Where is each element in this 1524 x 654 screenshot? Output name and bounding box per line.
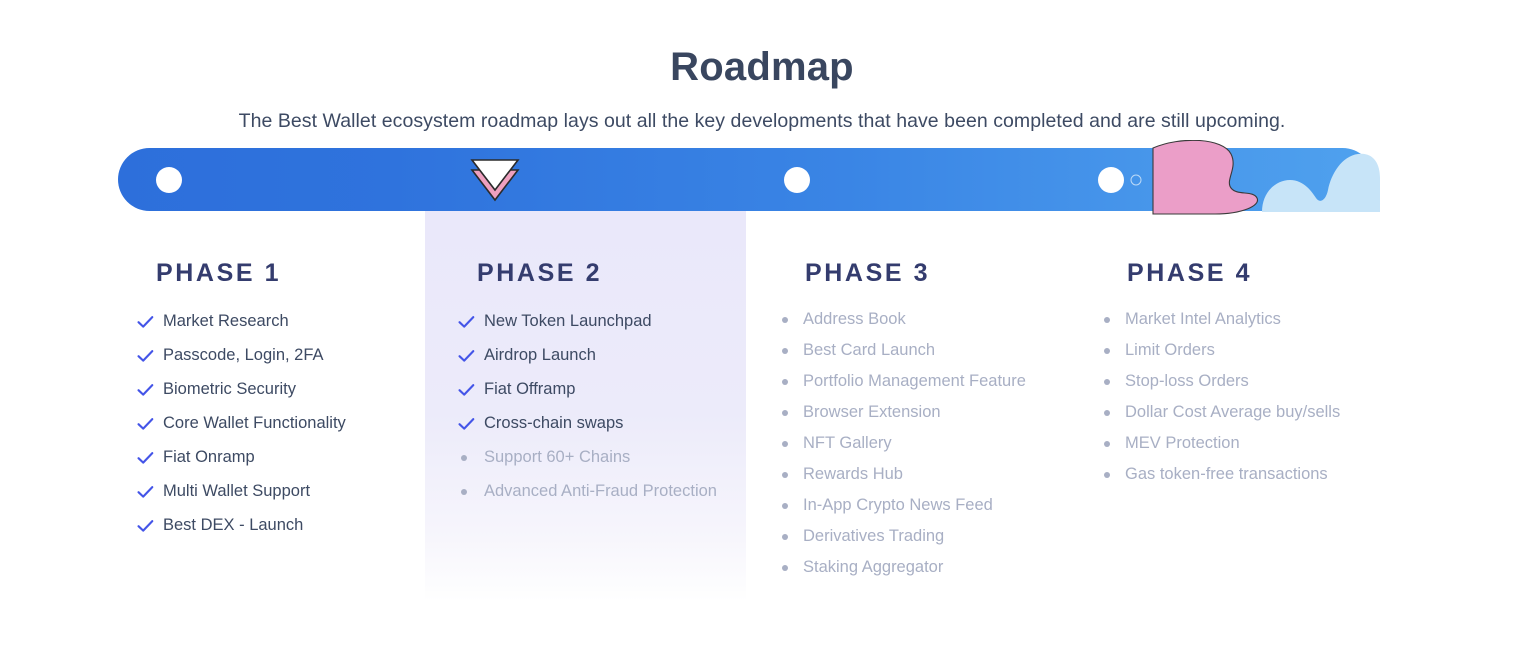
bullet-dot xyxy=(782,410,788,416)
list-item-label: Limit Orders xyxy=(1125,339,1215,362)
bullet-icon xyxy=(779,339,803,362)
phase-4-list: Market Intel AnalyticsLimit OrdersStop-l… xyxy=(1101,308,1401,486)
list-item-label: NFT Gallery xyxy=(803,432,892,455)
list-item: Multi Wallet Support xyxy=(137,480,437,503)
check-icon xyxy=(137,446,163,469)
bullet-dot xyxy=(782,348,788,354)
check-icon xyxy=(458,378,484,401)
bullet-icon xyxy=(458,480,484,503)
list-item: New Token Launchpad xyxy=(458,310,748,333)
list-item: Biometric Security xyxy=(137,378,437,401)
bullet-icon xyxy=(779,308,803,331)
list-item-label: MEV Protection xyxy=(1125,432,1240,455)
bullet-dot xyxy=(782,317,788,323)
bullet-icon xyxy=(1101,432,1125,455)
bullet-dot xyxy=(782,565,788,571)
list-item: Market Intel Analytics xyxy=(1101,308,1401,331)
list-item: Stop-loss Orders xyxy=(1101,370,1401,393)
list-item: In-App Crypto News Feed xyxy=(779,494,1089,517)
list-item-label: New Token Launchpad xyxy=(484,310,652,333)
list-item: Passcode, Login, 2FA xyxy=(137,344,437,367)
list-item: Gas token-free transactions xyxy=(1101,463,1401,486)
bullet-icon xyxy=(1101,339,1125,362)
check-icon xyxy=(137,480,163,503)
list-item: Browser Extension xyxy=(779,401,1089,424)
list-item: Cross-chain swaps xyxy=(458,412,748,435)
bullet-icon xyxy=(1101,463,1125,486)
list-item: Core Wallet Functionality xyxy=(137,412,437,435)
list-item: Fiat Offramp xyxy=(458,378,748,401)
list-item: Portfolio Management Feature xyxy=(779,370,1089,393)
list-item-label: Passcode, Login, 2FA xyxy=(163,344,324,367)
progress-bar-track xyxy=(118,148,1374,211)
phase-1-node[interactable] xyxy=(156,167,182,193)
bullet-dot xyxy=(782,534,788,540)
phase-3-node[interactable] xyxy=(784,167,810,193)
list-item-label: Dollar Cost Average buy/sells xyxy=(1125,401,1340,424)
list-item: Support 60+ Chains xyxy=(458,446,748,469)
list-item-label: Best DEX - Launch xyxy=(163,514,303,537)
list-item-label: Multi Wallet Support xyxy=(163,480,310,503)
list-item: Best Card Launch xyxy=(779,339,1089,362)
list-item-label: Airdrop Launch xyxy=(484,344,596,367)
check-icon xyxy=(458,344,484,367)
check-icon xyxy=(137,378,163,401)
bullet-dot xyxy=(461,489,467,495)
list-item-label: Staking Aggregator xyxy=(803,556,943,579)
list-item-label: Biometric Security xyxy=(163,378,296,401)
phase-5-node xyxy=(1131,174,1142,185)
list-item-label: Cross-chain swaps xyxy=(484,412,623,435)
bullet-dot xyxy=(461,455,467,461)
list-item: Advanced Anti-Fraud Protection xyxy=(458,480,748,503)
bullet-icon xyxy=(779,432,803,455)
list-item: Market Research xyxy=(137,310,437,333)
bullet-dot xyxy=(1104,441,1110,447)
list-item-label: Advanced Anti-Fraud Protection xyxy=(484,480,717,503)
check-icon xyxy=(458,412,484,435)
list-item: Rewards Hub xyxy=(779,463,1089,486)
list-item: Address Book xyxy=(779,308,1089,331)
bullet-dot xyxy=(1104,317,1110,323)
bullet-icon xyxy=(779,463,803,486)
phase-1-heading: PHASE 1 xyxy=(156,259,437,288)
list-item: Fiat Onramp xyxy=(137,446,437,469)
bullet-icon xyxy=(1101,308,1125,331)
list-item-label: In-App Crypto News Feed xyxy=(803,494,993,517)
bullet-dot xyxy=(1104,410,1110,416)
phase-2-list: New Token LaunchpadAirdrop LaunchFiat Of… xyxy=(458,310,748,503)
bullet-icon xyxy=(779,401,803,424)
check-icon xyxy=(137,514,163,537)
list-item: Staking Aggregator xyxy=(779,556,1089,579)
bullet-dot xyxy=(782,379,788,385)
bullet-icon xyxy=(779,494,803,517)
bullet-icon xyxy=(779,556,803,579)
list-item-label: Fiat Offramp xyxy=(484,378,575,401)
check-icon xyxy=(137,412,163,435)
list-item: Best DEX - Launch xyxy=(137,514,437,537)
list-item-label: Browser Extension xyxy=(803,401,941,424)
page-subtitle: The Best Wallet ecosystem roadmap lays o… xyxy=(0,110,1524,133)
check-icon xyxy=(458,310,484,333)
phase-1-list: Market ResearchPasscode, Login, 2FABiome… xyxy=(137,310,437,537)
phase-4-node[interactable] xyxy=(1098,167,1124,193)
bullet-icon xyxy=(779,525,803,548)
bullet-dot xyxy=(782,472,788,478)
phase-3-list: Address BookBest Card LaunchPortfolio Ma… xyxy=(779,308,1089,579)
list-item: Derivatives Trading xyxy=(779,525,1089,548)
list-item-label: Support 60+ Chains xyxy=(484,446,630,469)
bullet-dot xyxy=(1104,348,1110,354)
list-item-label: Portfolio Management Feature xyxy=(803,370,1026,393)
page-title: Roadmap xyxy=(0,45,1524,90)
bullet-icon xyxy=(1101,401,1125,424)
bullet-icon xyxy=(1101,370,1125,393)
list-item: Dollar Cost Average buy/sells xyxy=(1101,401,1401,424)
list-item-label: Best Card Launch xyxy=(803,339,935,362)
list-item-label: Gas token-free transactions xyxy=(1125,463,1328,486)
bullet-dot xyxy=(782,503,788,509)
list-item-label: Core Wallet Functionality xyxy=(163,412,346,435)
list-item-label: Rewards Hub xyxy=(803,463,903,486)
phase-column-3: PHASE 3Address BookBest Card LaunchPortf… xyxy=(779,211,1089,587)
list-item: MEV Protection xyxy=(1101,432,1401,455)
list-item-label: Address Book xyxy=(803,308,906,331)
list-item-label: Market Research xyxy=(163,310,289,333)
phase-4-heading: PHASE 4 xyxy=(1127,259,1401,288)
bullet-dot xyxy=(1104,472,1110,478)
phase-column-2: PHASE 2New Token LaunchpadAirdrop Launch… xyxy=(458,211,748,514)
list-item-label: Market Intel Analytics xyxy=(1125,308,1281,331)
list-item-label: Stop-loss Orders xyxy=(1125,370,1249,393)
bullet-dot xyxy=(1104,379,1110,385)
check-icon xyxy=(137,310,163,333)
list-item-label: Derivatives Trading xyxy=(803,525,944,548)
list-item: Airdrop Launch xyxy=(458,344,748,367)
list-item: NFT Gallery xyxy=(779,432,1089,455)
list-item: Limit Orders xyxy=(1101,339,1401,362)
phase-column-4: PHASE 4Market Intel AnalyticsLimit Order… xyxy=(1101,211,1401,494)
phase-columns: PHASE 1Market ResearchPasscode, Login, 2… xyxy=(0,211,1524,631)
check-icon xyxy=(137,344,163,367)
phase-column-1: PHASE 1Market ResearchPasscode, Login, 2… xyxy=(137,211,437,548)
phase-2-heading: PHASE 2 xyxy=(477,259,748,288)
phase-3-heading: PHASE 3 xyxy=(805,259,1089,288)
bullet-icon xyxy=(458,446,484,469)
bullet-icon xyxy=(779,370,803,393)
list-item-label: Fiat Onramp xyxy=(163,446,255,469)
roadmap-progress-bar xyxy=(118,148,1374,211)
bullet-dot xyxy=(782,441,788,447)
